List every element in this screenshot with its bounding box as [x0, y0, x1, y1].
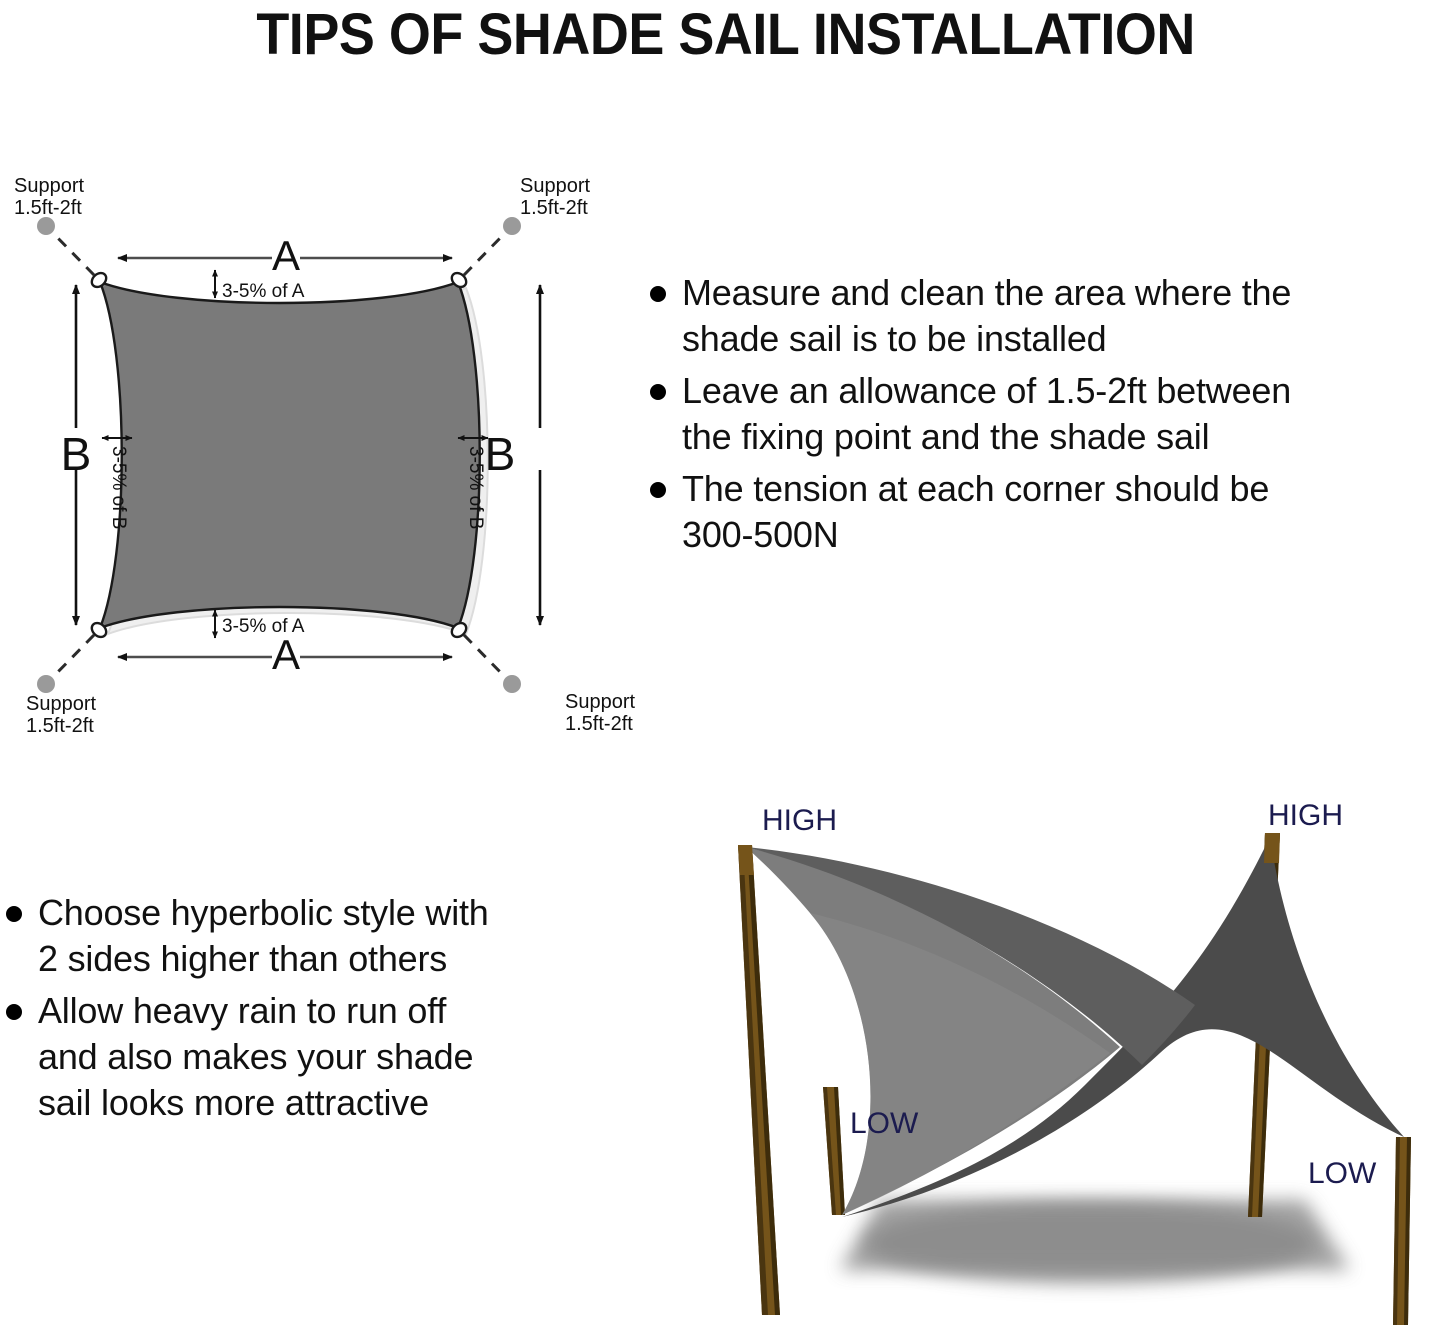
dimension-label-bottom-a: A	[272, 631, 300, 678]
post-high-left	[738, 845, 780, 1315]
curve-depth-label-bottom: 3-5% of A	[222, 616, 305, 637]
support-label-bottom-right-line2: 1.5ft-2ft	[565, 713, 633, 735]
bullet-dot-icon	[6, 1004, 22, 1020]
label-high-right: HIGH	[1268, 799, 1343, 832]
tip-text: Measure and clean the area where the sha…	[682, 270, 1291, 362]
support-label-bottom-right-line1: Support	[565, 691, 635, 713]
label-low-left: LOW	[850, 1107, 919, 1140]
ground-shadow-quad	[840, 1200, 1350, 1270]
support-label-top-right-line1: Support	[520, 175, 590, 197]
support-dot-top-right	[503, 217, 521, 235]
sail-body	[100, 282, 480, 628]
post-low-left	[823, 1087, 845, 1215]
tip-text: Leave an allowance of 1.5-2ft between th…	[682, 368, 1291, 460]
support-label-bottom-left-line2: 1.5ft-2ft	[26, 715, 94, 737]
tips-list-top: Measure and clean the area where the sha…	[650, 270, 1450, 564]
dimension-label-right-b: B	[485, 428, 516, 480]
label-high-left: HIGH	[762, 804, 837, 837]
tip-text: Choose hyperbolic style with 2 sides hig…	[38, 890, 489, 982]
dimension-label-top-a: A	[272, 232, 300, 279]
dimension-label-left-b: B	[61, 428, 92, 480]
curve-depth-label-left: 3-5% of B	[108, 446, 129, 529]
list-item: The tension at each corner should be 300…	[650, 466, 1450, 558]
list-item: Choose hyperbolic style with 2 sides hig…	[6, 890, 646, 982]
title-bar: TIPS OF SHADE SAIL INSTALLATION	[0, 0, 1452, 70]
curve-depth-label-top: 3-5% of A	[222, 281, 305, 302]
rectangular-sail-diagram: Support 1.5ft-2ft Support 1.5ft-2ft Supp…	[0, 170, 660, 750]
bullet-dot-icon	[650, 286, 666, 302]
support-label-top-left-line2: 1.5ft-2ft	[14, 197, 82, 219]
support-label-top-right-line2: 1.5ft-2ft	[520, 197, 588, 219]
post-low-right	[1393, 1137, 1411, 1325]
bullet-dot-icon	[650, 384, 666, 400]
support-label-top-left-line1: Support	[14, 175, 84, 197]
list-item: Leave an allowance of 1.5-2ft between th…	[650, 368, 1450, 460]
support-label-bottom-left-line1: Support	[26, 693, 96, 715]
page-title: TIPS OF SHADE SAIL INSTALLATION	[257, 6, 1196, 64]
tips-list-bottom: Choose hyperbolic style with 2 sides hig…	[6, 890, 646, 1132]
support-dot-bottom-left	[37, 675, 55, 693]
list-item: Measure and clean the area where the sha…	[650, 270, 1450, 362]
support-dot-bottom-right	[503, 675, 521, 693]
tip-text: The tension at each corner should be 300…	[682, 466, 1269, 558]
bullet-dot-icon	[6, 906, 22, 922]
bullet-dot-icon	[650, 482, 666, 498]
top-section: Support 1.5ft-2ft Support 1.5ft-2ft Supp…	[0, 150, 1452, 770]
label-low-right: LOW	[1308, 1157, 1377, 1190]
curve-depth-label-right: 3-5% of B	[465, 446, 486, 529]
tip-text: Allow heavy rain to run off and also mak…	[38, 988, 473, 1126]
hyperbolic-sail-illustration: HIGH HIGH LOW LOW	[690, 785, 1452, 1325]
list-item: Allow heavy rain to run off and also mak…	[6, 988, 646, 1126]
support-dot-top-left	[37, 217, 55, 235]
